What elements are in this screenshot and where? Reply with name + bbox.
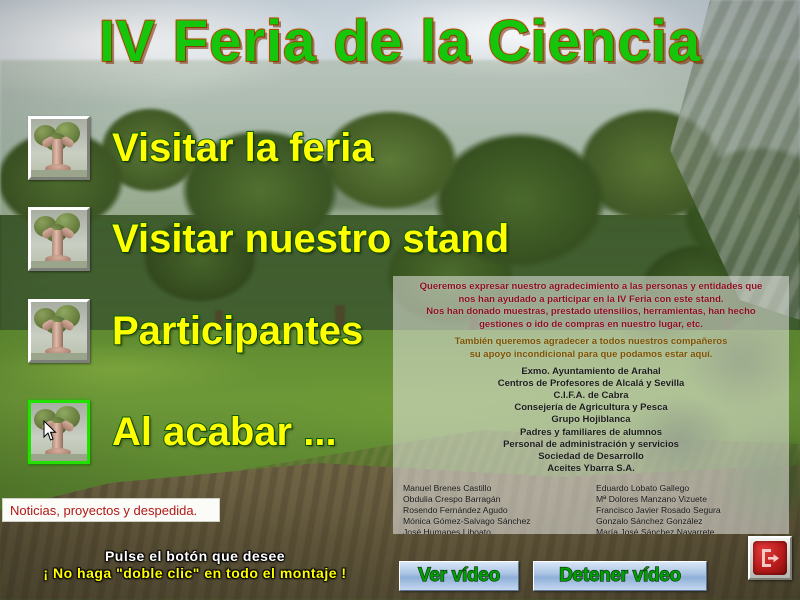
menu-item-participantes[interactable]: Participantes <box>28 299 363 363</box>
menu-item-label: Participantes <box>112 311 363 351</box>
credits-organizations-list: Exmo. Ayuntamiento de Arahal Centros de … <box>399 366 783 476</box>
list-item: Gonzalo Sánchez González <box>596 516 779 527</box>
list-item: Eduardo Lobato Gallego <box>596 483 779 494</box>
stop-video-button[interactable]: Detener vídeo <box>533 561 707 591</box>
stop-video-button-label: Detener vídeo <box>559 565 681 587</box>
menu-item-label: Al acabar ... <box>112 412 337 452</box>
presentation-slide: IV Feria de la Ciencia Visitar la feria … <box>0 0 800 600</box>
list-item: Mª Dolores Manzano Vizuete <box>596 494 779 505</box>
credits-names: Manuel Brenes Castillo Obdulia Crespo Ba… <box>399 483 783 534</box>
olive-tree-illustration <box>31 119 87 177</box>
exit-door-arrow-icon <box>759 547 781 569</box>
menu-item-al-acabar[interactable]: Al acabar ... <box>28 400 337 464</box>
menu-item-label: Visitar la feria <box>112 128 374 168</box>
credits-intro: Queremos expresar nuestro agradecimiento… <box>399 281 783 331</box>
olive-tree-icon[interactable] <box>28 299 90 363</box>
play-video-button-label: Ver vídeo <box>418 565 500 587</box>
notice-box: Noticias, proyectos y despedida. <box>2 498 220 522</box>
exit-button-face <box>753 541 787 575</box>
play-video-button[interactable]: Ver vídeo <box>399 561 519 591</box>
credits-intro-secondary: También queremos agradecer a todos nuest… <box>399 336 783 361</box>
menu-item-label: Visitar nuestro stand <box>112 219 509 259</box>
olive-tree-illustration <box>31 210 87 268</box>
list-item: Manuel Brenes Castillo <box>403 483 586 494</box>
footer-line-2: ¡ No haga "doble clic" en todo el montaj… <box>0 565 390 582</box>
list-item: Mónica Gómez-Salvago Sánchez <box>403 516 586 527</box>
notice-text: Noticias, proyectos y despedida. <box>10 503 197 518</box>
credits-panel: Queremos expresar nuestro agradecimiento… <box>393 276 789 534</box>
footer-line-1: Pulse el botón que desee <box>0 548 390 565</box>
page-title: IV Feria de la Ciencia <box>0 8 800 75</box>
olive-tree-illustration <box>31 302 87 360</box>
olive-tree-icon[interactable] <box>28 207 90 271</box>
credits-names-left-column: Manuel Brenes Castillo Obdulia Crespo Ba… <box>403 483 586 534</box>
list-item: Francisco Javier Rosado Segura <box>596 505 779 516</box>
footer-instructions: Pulse el botón que desee ¡ No haga "dobl… <box>0 548 390 582</box>
olive-tree-icon[interactable] <box>28 116 90 180</box>
menu-item-visitar-nuestro-stand[interactable]: Visitar nuestro stand <box>28 207 509 271</box>
list-item: Obdulia Crespo Barragán <box>403 494 586 505</box>
olive-tree-illustration <box>31 403 87 461</box>
list-item: José Humanes Liboato <box>403 527 586 534</box>
menu-item-visitar-la-feria[interactable]: Visitar la feria <box>28 116 374 180</box>
credits-names-right-column: Eduardo Lobato Gallego Mª Dolores Manzan… <box>596 483 779 534</box>
list-item: Rosendo Fernández Agudo <box>403 505 586 516</box>
olive-tree-icon[interactable] <box>28 400 90 464</box>
list-item: María José Sánchez Navarrete <box>596 527 779 534</box>
exit-button[interactable] <box>748 536 792 580</box>
